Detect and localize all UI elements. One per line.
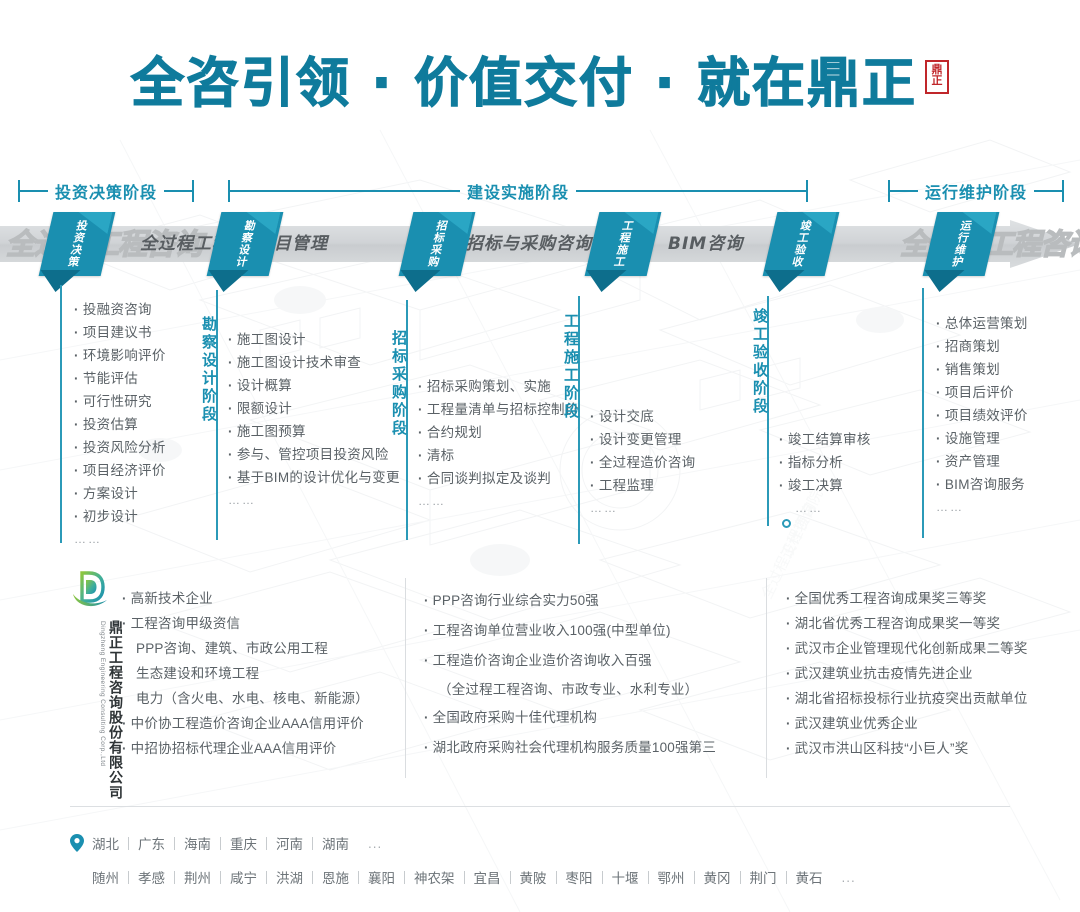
list-item-sub: 生态建设和环境工程 bbox=[122, 661, 369, 686]
bracket-right bbox=[806, 180, 808, 202]
list-item: 工程监理 bbox=[590, 474, 695, 497]
list-item: 方案设计 bbox=[74, 482, 166, 505]
list-item: 投融资咨询 bbox=[74, 298, 166, 321]
location-item[interactable]: 襄阳 bbox=[359, 867, 404, 887]
list-item-sub: （全过程工程咨询、市政专业、水利专业） bbox=[424, 676, 716, 703]
list-item: 可行性研究 bbox=[74, 390, 166, 413]
ribbon-label: 工程施工 bbox=[585, 212, 662, 276]
location-pin-icon bbox=[70, 834, 84, 852]
list-item: 招商策划 bbox=[936, 335, 1028, 358]
credential-divider bbox=[766, 578, 767, 778]
list-ellipsis: …… bbox=[418, 490, 579, 513]
list-item: 武汉建筑业优秀企业 bbox=[786, 711, 1028, 736]
credential-divider bbox=[405, 578, 406, 778]
band-segment-bim: BIM咨询 bbox=[668, 220, 743, 268]
ribbon-label: 投资决策 bbox=[39, 212, 116, 276]
ribbon-tab-investment-decision[interactable]: 投资决策 bbox=[46, 212, 108, 276]
ribbon-tab-operation-maintenance[interactable]: 运行维护 bbox=[930, 212, 992, 276]
ribbon-label: 运行维护 bbox=[923, 212, 1000, 276]
list-ellipsis: …… bbox=[936, 496, 1028, 519]
logo-name-en: Dingzheng Engineering Consulting Corp.,L… bbox=[99, 621, 106, 766]
list-item: 总体运营策划 bbox=[936, 312, 1028, 335]
bracket-right bbox=[192, 180, 194, 202]
ribbon-label: 招标采购 bbox=[399, 212, 476, 276]
location-item[interactable]: 荆门 bbox=[741, 867, 786, 887]
list-item: 投资估算 bbox=[74, 413, 166, 436]
list-item: 设计变更管理 bbox=[590, 428, 695, 451]
list-item: 环境影响评价 bbox=[74, 344, 166, 367]
location-item[interactable]: 湖北 bbox=[92, 833, 128, 853]
location-item[interactable]: 神农架 bbox=[405, 867, 464, 887]
rule bbox=[230, 190, 460, 192]
rule bbox=[1034, 190, 1062, 192]
footer-row-provinces: 湖北 广东 海南 重庆 河南 湖南 ... bbox=[70, 826, 1030, 860]
credential-list-awards: 全国优秀工程咨询成果奖三等奖 湖北省优秀工程咨询成果奖一等奖 武汉市企业管理现代… bbox=[786, 586, 1028, 761]
list-item: 工程造价咨询企业造价咨询收入百强 bbox=[424, 646, 716, 676]
list-item: 设计概算 bbox=[228, 374, 400, 397]
ribbon-tab-construction[interactable]: 工程施工 bbox=[592, 212, 654, 276]
list-item: 武汉建筑业抗击疫情先进企业 bbox=[786, 661, 1028, 686]
location-item[interactable]: 枣阳 bbox=[557, 867, 602, 887]
rule bbox=[576, 190, 806, 192]
seal-char-2: 正 bbox=[928, 76, 946, 87]
list-item: 项目绩效评价 bbox=[936, 404, 1028, 427]
list-item: BIM咨询服务 bbox=[936, 473, 1028, 496]
rule bbox=[20, 190, 48, 192]
list-item: 初步设计 bbox=[74, 505, 166, 528]
phase-header-operation-maintenance: 运行维护阶段 bbox=[888, 178, 1064, 204]
location-item[interactable]: 洪湖 bbox=[267, 867, 312, 887]
location-item[interactable]: 随州 bbox=[92, 867, 128, 887]
logo-wordmark: 鼎正工程咨询股份有限公司 Dingzheng Engineering Consu… bbox=[72, 620, 122, 800]
list-item: 参与、管控项目投资风险 bbox=[228, 443, 400, 466]
list-item: 武汉市企业管理现代化创新成果二等奖 bbox=[786, 636, 1028, 661]
list-item: 工程咨询单位营业收入100强(中型单位) bbox=[424, 616, 716, 646]
rule bbox=[164, 190, 192, 192]
list-item: 资产管理 bbox=[936, 450, 1028, 473]
location-item[interactable]: 宜昌 bbox=[465, 867, 510, 887]
location-item[interactable]: 咸宁 bbox=[221, 867, 266, 887]
location-item[interactable]: 河南 bbox=[267, 833, 312, 853]
location-item[interactable]: 鄂州 bbox=[649, 867, 694, 887]
list-item: 招标采购策划、实施 bbox=[418, 375, 579, 398]
location-item[interactable]: 黄冈 bbox=[695, 867, 740, 887]
list-item: 湖北省招标投标行业抗疫突出贡献单位 bbox=[786, 686, 1028, 711]
page-title: 全咨引领 · 价值交付 · 就在鼎正 bbox=[131, 54, 917, 115]
list-item: 设施管理 bbox=[936, 427, 1028, 450]
list-item: 湖北省优秀工程咨询成果奖一等奖 bbox=[786, 611, 1028, 636]
rule bbox=[890, 190, 918, 192]
list-item: 全国政府采购十佳代理机构 bbox=[424, 703, 716, 733]
credential-list-rankings: PPP咨询行业综合实力50强 工程咨询单位营业收入100强(中型单位) 工程造价… bbox=[424, 586, 716, 763]
list-item: 工程量清单与招标控制价 bbox=[418, 398, 579, 421]
logo-name-cn: 鼎正工程咨询股份有限公司 bbox=[107, 620, 122, 800]
list-item: 限额设计 bbox=[228, 397, 400, 420]
process-arrow-band: 全过程工程咨询 全过程工程咨询 全过程工程 项目管理 招标与采购咨询 BIM咨询… bbox=[0, 220, 1080, 268]
stage-vertical-label: 工程施工阶段 bbox=[561, 313, 582, 421]
location-item[interactable]: 荆州 bbox=[175, 867, 220, 887]
list-item: 全过程造价咨询 bbox=[590, 451, 695, 474]
list-item: 湖北政府采购社会代理机构服务质量100强第三 bbox=[424, 733, 716, 763]
location-item[interactable]: 湖南 bbox=[313, 833, 358, 853]
credential-list-qualifications: 高新技术企业 工程咨询甲级资信 PPP咨询、建筑、市政公用工程 生态建设和环境工… bbox=[122, 586, 369, 761]
location-item[interactable]: 恩施 bbox=[313, 867, 358, 887]
list-item: 合同谈判拟定及谈判 bbox=[418, 467, 579, 490]
stage-bullet-list: 总体运营策划 招商策划 销售策划 项目后评价 项目绩效评价 设施管理 资产管理 … bbox=[936, 312, 1028, 519]
phase-header-construction: 建设实施阶段 bbox=[228, 178, 808, 204]
list-item: 全国优秀工程咨询成果奖三等奖 bbox=[786, 586, 1028, 611]
location-item[interactable]: 孝感 bbox=[129, 867, 174, 887]
city-list: 随州 孝感 荆州 咸宁 洪湖 恩施 襄阳 神农架 宜昌 黄陂 枣阳 十堰 鄂州 bbox=[92, 867, 856, 887]
stage-vertical-label: 勘察设计阶段 bbox=[199, 316, 220, 424]
list-item-sub: 电力（含火电、水电、核电、新能源） bbox=[122, 686, 369, 711]
location-item[interactable]: 十堰 bbox=[603, 867, 648, 887]
location-item[interactable]: 广东 bbox=[129, 833, 174, 853]
list-item: 投资风险分析 bbox=[74, 436, 166, 459]
list-item-sub: PPP咨询、建筑、市政公用工程 bbox=[122, 636, 369, 661]
list-item: 施工图设计 bbox=[228, 328, 400, 351]
phase-label: 建设实施阶段 bbox=[460, 179, 576, 203]
stage-vertical-label: 竣工验收阶段 bbox=[750, 308, 771, 416]
stage-endpoint-dot bbox=[782, 519, 791, 528]
list-item: 基于BIM的设计优化与变更 bbox=[228, 466, 400, 489]
location-item[interactable]: 重庆 bbox=[221, 833, 266, 853]
ribbon-label: 勘察设计 bbox=[207, 212, 284, 276]
list-item: 设计交底 bbox=[590, 405, 695, 428]
list-item: 项目建议书 bbox=[74, 321, 166, 344]
location-more[interactable]: ... bbox=[358, 836, 382, 851]
phase-label: 投资决策阶段 bbox=[48, 179, 164, 203]
logo-d-mark-icon bbox=[70, 570, 110, 614]
stage-divider-line bbox=[922, 288, 924, 538]
stage-vertical-label: 招标采购阶段 bbox=[389, 330, 410, 438]
credentials-section: 鼎正工程咨询股份有限公司 Dingzheng Engineering Consu… bbox=[0, 560, 1080, 810]
list-item: 竣工决算 bbox=[779, 474, 871, 497]
list-ellipsis: …… bbox=[228, 489, 400, 512]
list-item: PPP咨询行业综合实力50强 bbox=[424, 586, 716, 616]
location-more[interactable]: ... bbox=[832, 870, 856, 885]
list-item: 高新技术企业 bbox=[122, 586, 369, 611]
stage-bullet-list: 施工图设计 施工图设计技术审查 设计概算 限额设计 施工图预算 参与、管控项目投… bbox=[228, 328, 400, 512]
footer-row-cities: 随州 孝感 荆州 咸宁 洪湖 恩施 襄阳 神农架 宜昌 黄陂 枣阳 十堰 鄂州 bbox=[70, 860, 1030, 894]
location-item[interactable]: 海南 bbox=[175, 833, 220, 853]
ribbon-tab-bidding-procurement[interactable]: 招标采购 bbox=[406, 212, 468, 276]
location-item[interactable]: 黄石 bbox=[787, 867, 832, 887]
list-item: 合约规划 bbox=[418, 421, 579, 444]
list-item: 项目后评价 bbox=[936, 381, 1028, 404]
ribbon-label: 竣工验收 bbox=[763, 212, 840, 276]
phase-label: 运行维护阶段 bbox=[918, 179, 1034, 203]
list-item: 项目经济评价 bbox=[74, 459, 166, 482]
list-item: 节能评估 bbox=[74, 367, 166, 390]
stage-bullet-list: 投融资咨询 项目建议书 环境影响评价 节能评估 可行性研究 投资估算 投资风险分… bbox=[74, 298, 166, 551]
list-item: 指标分析 bbox=[779, 451, 871, 474]
list-item: 竣工结算审核 bbox=[779, 428, 871, 451]
band-segment-bidding-procurement: 招标与采购咨询 bbox=[466, 220, 592, 268]
list-item: 中招协招标代理企业AAA信用评价 bbox=[122, 736, 369, 761]
phase-header-investment-decision: 投资决策阶段 bbox=[18, 178, 194, 204]
list-item: 工程咨询甲级资信 bbox=[122, 611, 369, 636]
footer-locations: 湖北 广东 海南 重庆 河南 湖南 ... 随州 孝感 荆州 咸宁 洪湖 恩施 bbox=[70, 826, 1030, 894]
header: 全咨引领 · 价值交付 · 就在鼎正鼎正 bbox=[0, 54, 1080, 115]
stage-bullet-list: 设计交底 设计变更管理 全过程造价咨询 工程监理 …… bbox=[590, 405, 695, 520]
list-ellipsis: …… bbox=[590, 497, 695, 520]
ribbon-tab-survey-design[interactable]: 勘察设计 bbox=[214, 212, 276, 276]
stage-divider-line bbox=[60, 285, 62, 543]
location-item[interactable]: 黄陂 bbox=[511, 867, 556, 887]
company-seal-stamp: 鼎正 bbox=[925, 60, 949, 94]
list-item: 清标 bbox=[418, 444, 579, 467]
list-item: 施工图预算 bbox=[228, 420, 400, 443]
list-item: 施工图设计技术审查 bbox=[228, 351, 400, 374]
list-ellipsis: …… bbox=[779, 497, 871, 520]
company-logo: 鼎正工程咨询股份有限公司 Dingzheng Engineering Consu… bbox=[70, 570, 122, 800]
ribbon-tab-completion-acceptance[interactable]: 竣工验收 bbox=[770, 212, 832, 276]
list-item: 中价协工程造价咨询企业AAA信用评价 bbox=[122, 711, 369, 736]
province-list: 湖北 广东 海南 重庆 河南 湖南 ... bbox=[92, 833, 382, 853]
stage-bullet-list: 招标采购策划、实施 工程量清单与招标控制价 合约规划 清标 合同谈判拟定及谈判 … bbox=[418, 375, 579, 513]
stage-bullet-list: 竣工结算审核 指标分析 竣工决算 …… bbox=[779, 428, 871, 520]
bracket-right bbox=[1062, 180, 1064, 202]
list-ellipsis: …… bbox=[74, 528, 166, 551]
list-item: 武汉市洪山区科技“小巨人”奖 bbox=[786, 736, 1028, 761]
footer-divider bbox=[70, 806, 1010, 807]
list-item: 销售策划 bbox=[936, 358, 1028, 381]
